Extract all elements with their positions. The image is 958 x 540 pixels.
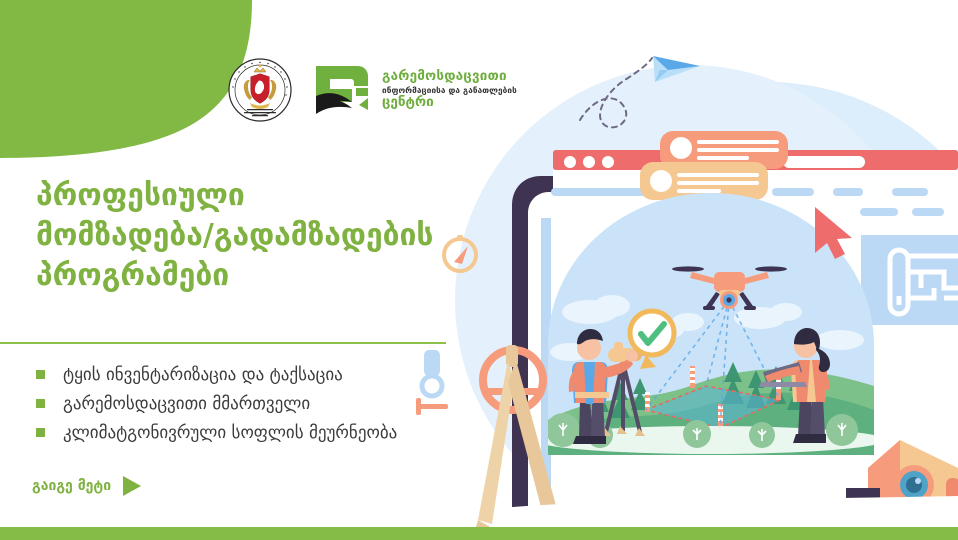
eic-logo: გარემოსდაცვითი ინფორმაციისა და განათლები… [310, 62, 517, 118]
bottom-bar [0, 527, 958, 540]
list-item: კლიმატგონივრული სოფლის მეურნეობა [36, 418, 506, 447]
eic-open-book-mark-icon [310, 62, 374, 118]
list-item-label: გარემოსდაცვითი მმართველი [63, 394, 310, 414]
headline-line-1: პროფესიული [36, 176, 456, 216]
divider [0, 342, 446, 344]
list-item: ტყის ინვენტარიზაცია და ტაქსაცია [36, 360, 506, 389]
logo-line-2: ინფორმაციისა და განათლების [382, 86, 517, 94]
page-title: პროფესიული მომზადება/გადამზადების პროგრა… [36, 176, 456, 296]
headline-line-3: პროგრამები [36, 256, 456, 296]
bullet-square-icon [36, 399, 45, 408]
learn-more-label: გაიგე მეტი [32, 478, 111, 494]
list-item-label: კლიმატგონივრული სოფლის მეურნეობა [63, 423, 397, 443]
list-item-label: ტყის ინვენტარიზაცია და ტაქსაცია [63, 365, 343, 385]
blueprint-icon [861, 235, 958, 325]
logo-line-1: გარემოსდაცვითი [382, 70, 517, 84]
logo-row: გარემოსდაცვითი ინფორმაციისა და განათლები… [228, 58, 517, 122]
logo-line-3: ცენტრი [382, 96, 517, 110]
headline-line-2: მომზადება/გადამზადების [36, 216, 456, 256]
list-item: გარემოსდაცვითი მმართველი [36, 389, 506, 418]
bullet-square-icon [36, 428, 45, 437]
slide-root: გარემოსდაცვითი ინფორმაციისა და განათლები… [0, 0, 958, 540]
learn-more-button[interactable]: გაიგე მეტი [32, 476, 141, 496]
georgia-coat-of-arms-icon [228, 58, 292, 122]
bullet-square-icon [36, 370, 45, 379]
bullet-list: ტყის ინვენტარიზაცია და ტაქსაცია გარემოსდ… [36, 360, 506, 447]
play-triangle-icon[interactable] [123, 476, 141, 496]
